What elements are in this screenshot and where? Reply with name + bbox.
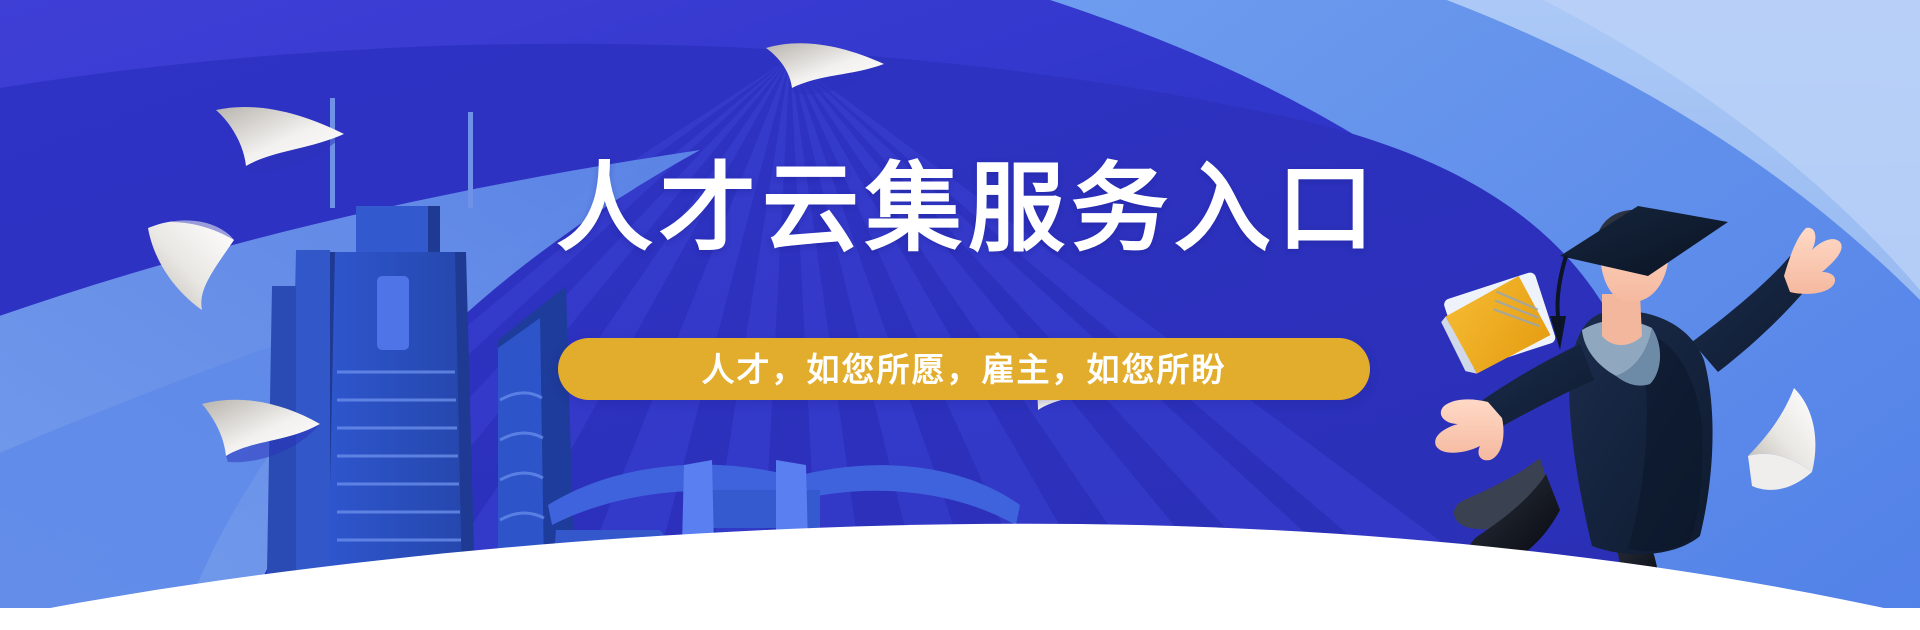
tower-main-crown	[356, 206, 428, 252]
promo-banner: 人才云集服务入口 人才，如您所愿，雇主，如您所盼	[0, 0, 1920, 630]
banner-illustration	[0, 0, 1920, 630]
tower-antenna-left	[330, 98, 335, 208]
tower-antenna-right	[468, 112, 473, 208]
tower-window-feature	[377, 276, 409, 350]
white-base-fill	[0, 608, 1920, 630]
